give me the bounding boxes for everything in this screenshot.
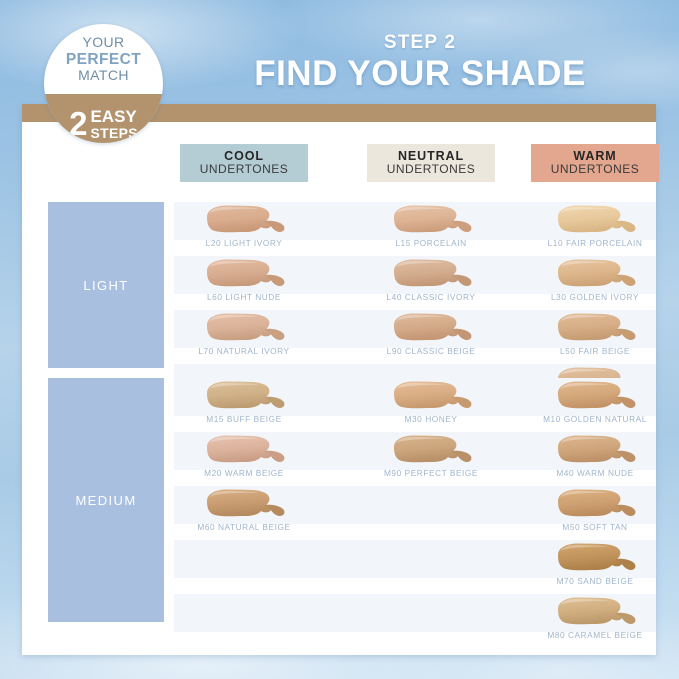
shade-cell: L70 NATURAL IVORY [180,310,308,364]
shade-cell: M20 WARM BEIGE [180,432,308,486]
table-row: M20 WARM BEIGEM90 PERFECT BEIGEM40 WARM … [174,432,656,486]
badge-steps: 2 EASY STEPS [44,108,163,140]
shade-grid: COOL UNDERTONES NEUTRAL UNDERTONES WARM … [22,122,656,655]
shade-cell: M80 CARAMEL BEIGE [531,594,659,648]
shade-swatch-icon [201,312,287,346]
shade-swatch-icon [552,380,638,414]
shade-swatch-icon [552,488,638,522]
shade-cell: M30 HONEY [367,378,495,432]
shade-name-label: L15 PORCELAIN [367,238,495,248]
shade-name-label: L90 CLASSIC BEIGE [367,346,495,356]
shade-name-label: M80 CARAMEL BEIGE [531,630,659,640]
shade-cell-empty [367,486,495,540]
column-headers: COOL UNDERTONES NEUTRAL UNDERTONES WARM … [22,144,656,182]
table-row: L60 LIGHT NUDEL40 CLASSIC IVORYL30 GOLDE… [174,256,656,310]
shade-cell: L30 GOLDEN IVORY [531,256,659,310]
shade-chart-card: COOL UNDERTONES NEUTRAL UNDERTONES WARM … [22,104,656,655]
perfect-match-badge: YOUR PERFECT MATCH 2 EASY STEPS [44,24,163,143]
column-header-neutral: NEUTRAL UNDERTONES [367,144,495,182]
shade-name-label: L30 GOLDEN IVORY [531,292,659,302]
shade-cell: L10 FAIR PORCELAIN [531,202,659,256]
shade-name-label: M50 SOFT TAN [531,522,659,532]
shade-cell-empty [367,540,495,594]
shade-swatch-icon [552,204,638,238]
shade-cell: M15 BUFF BEIGE [180,378,308,432]
shade-swatch-icon [388,380,474,414]
shade-name-label: M30 HONEY [367,414,495,424]
tone-block-light: LIGHT [48,202,164,368]
column-header-neutral-sub: UNDERTONES [387,163,476,176]
shade-cell: L40 CLASSIC IVORY [367,256,495,310]
shade-cell: M50 SOFT TAN [531,486,659,540]
shade-cell-empty [180,594,308,648]
shade-swatch-icon [201,258,287,292]
shade-swatch-icon [388,204,474,238]
shade-name-label: L10 FAIR PORCELAIN [531,238,659,248]
badge-word-easy: EASY [90,108,137,125]
shade-name-label: L40 CLASSIC IVORY [367,292,495,302]
shade-cell: L50 FAIR BEIGE [531,310,659,364]
shade-swatch-icon [552,596,638,630]
table-row: L20 LIGHT IVORYL15 PORCELAINL10 FAIR POR… [174,202,656,256]
shade-swatch-icon [552,312,638,346]
badge-word-steps: STEPS [90,126,137,140]
column-header-warm-sub: UNDERTONES [551,163,640,176]
tone-block-medium: MEDIUM [48,378,164,622]
shade-cell: L60 LIGHT NUDE [180,256,308,310]
column-header-cool-sub: UNDERTONES [200,163,289,176]
shade-name-label: M40 WARM NUDE [531,468,659,478]
shade-swatch-icon [388,312,474,346]
shade-name-label: L20 LIGHT IVORY [180,238,308,248]
shade-name-label: M10 GOLDEN NATURAL [531,414,659,424]
table-row: M80 CARAMEL BEIGE [174,594,656,648]
shade-cell: M40 WARM NUDE [531,432,659,486]
tone-label-light: LIGHT [83,278,128,293]
column-header-neutral-title: NEUTRAL [398,150,464,164]
shade-name-label: L60 LIGHT NUDE [180,292,308,302]
shade-cell: M60 NATURAL BEIGE [180,486,308,540]
shade-cell: L20 LIGHT IVORY [180,202,308,256]
badge-line-3: MATCH [78,67,129,83]
shade-name-label: M70 SAND BEIGE [531,576,659,586]
column-header-warm: WARM UNDERTONES [531,144,659,182]
column-header-warm-title: WARM [573,150,616,164]
shade-swatch-icon [552,434,638,468]
badge-words: EASY STEPS [90,108,137,140]
table-row: L70 NATURAL IVORYL90 CLASSIC BEIGEL50 FA… [174,310,656,364]
table-row: M70 SAND BEIGE [174,540,656,594]
shade-swatch-icon [201,434,287,468]
shade-name-label: L50 FAIR BEIGE [531,346,659,356]
table-row: M60 NATURAL BEIGEM50 SOFT TAN [174,486,656,540]
step-label: STEP 2 [210,32,630,54]
shade-swatch-icon [201,380,287,414]
shade-name-label: M60 NATURAL BEIGE [180,522,308,532]
shade-cell-empty [180,540,308,594]
shade-cell: M10 GOLDEN NATURAL [531,378,659,432]
shade-swatch-icon [388,258,474,292]
shade-name-label: M15 BUFF BEIGE [180,414,308,424]
badge-number: 2 [69,109,87,139]
shade-cell: L15 PORCELAIN [367,202,495,256]
shade-swatch-icon [552,258,638,292]
shade-cell: M70 SAND BEIGE [531,540,659,594]
badge-top-text: YOUR PERFECT MATCH [44,35,163,84]
column-header-cool-title: COOL [224,150,264,164]
table-row: M15 BUFF BEIGEM30 HONEYM10 GOLDEN NATURA… [174,378,656,432]
shade-cell: M90 PERFECT BEIGE [367,432,495,486]
shade-name-label: L70 NATURAL IVORY [180,346,308,356]
shade-name-label: M90 PERFECT BEIGE [367,468,495,478]
shade-name-label: M20 WARM BEIGE [180,468,308,478]
column-header-cool: COOL UNDERTONES [180,144,308,182]
shade-cell-empty [367,594,495,648]
badge-line-1: YOUR [82,34,124,50]
badge-line-2: PERFECT [44,51,163,68]
shade-swatch-icon [201,204,287,238]
shade-swatch-icon [201,488,287,522]
shade-cell: L90 CLASSIC BEIGE [367,310,495,364]
shade-swatch-icon [388,434,474,468]
page-title: FIND YOUR SHADE [170,54,670,94]
shade-swatch-icon [552,542,638,576]
tone-label-medium: MEDIUM [75,493,136,508]
